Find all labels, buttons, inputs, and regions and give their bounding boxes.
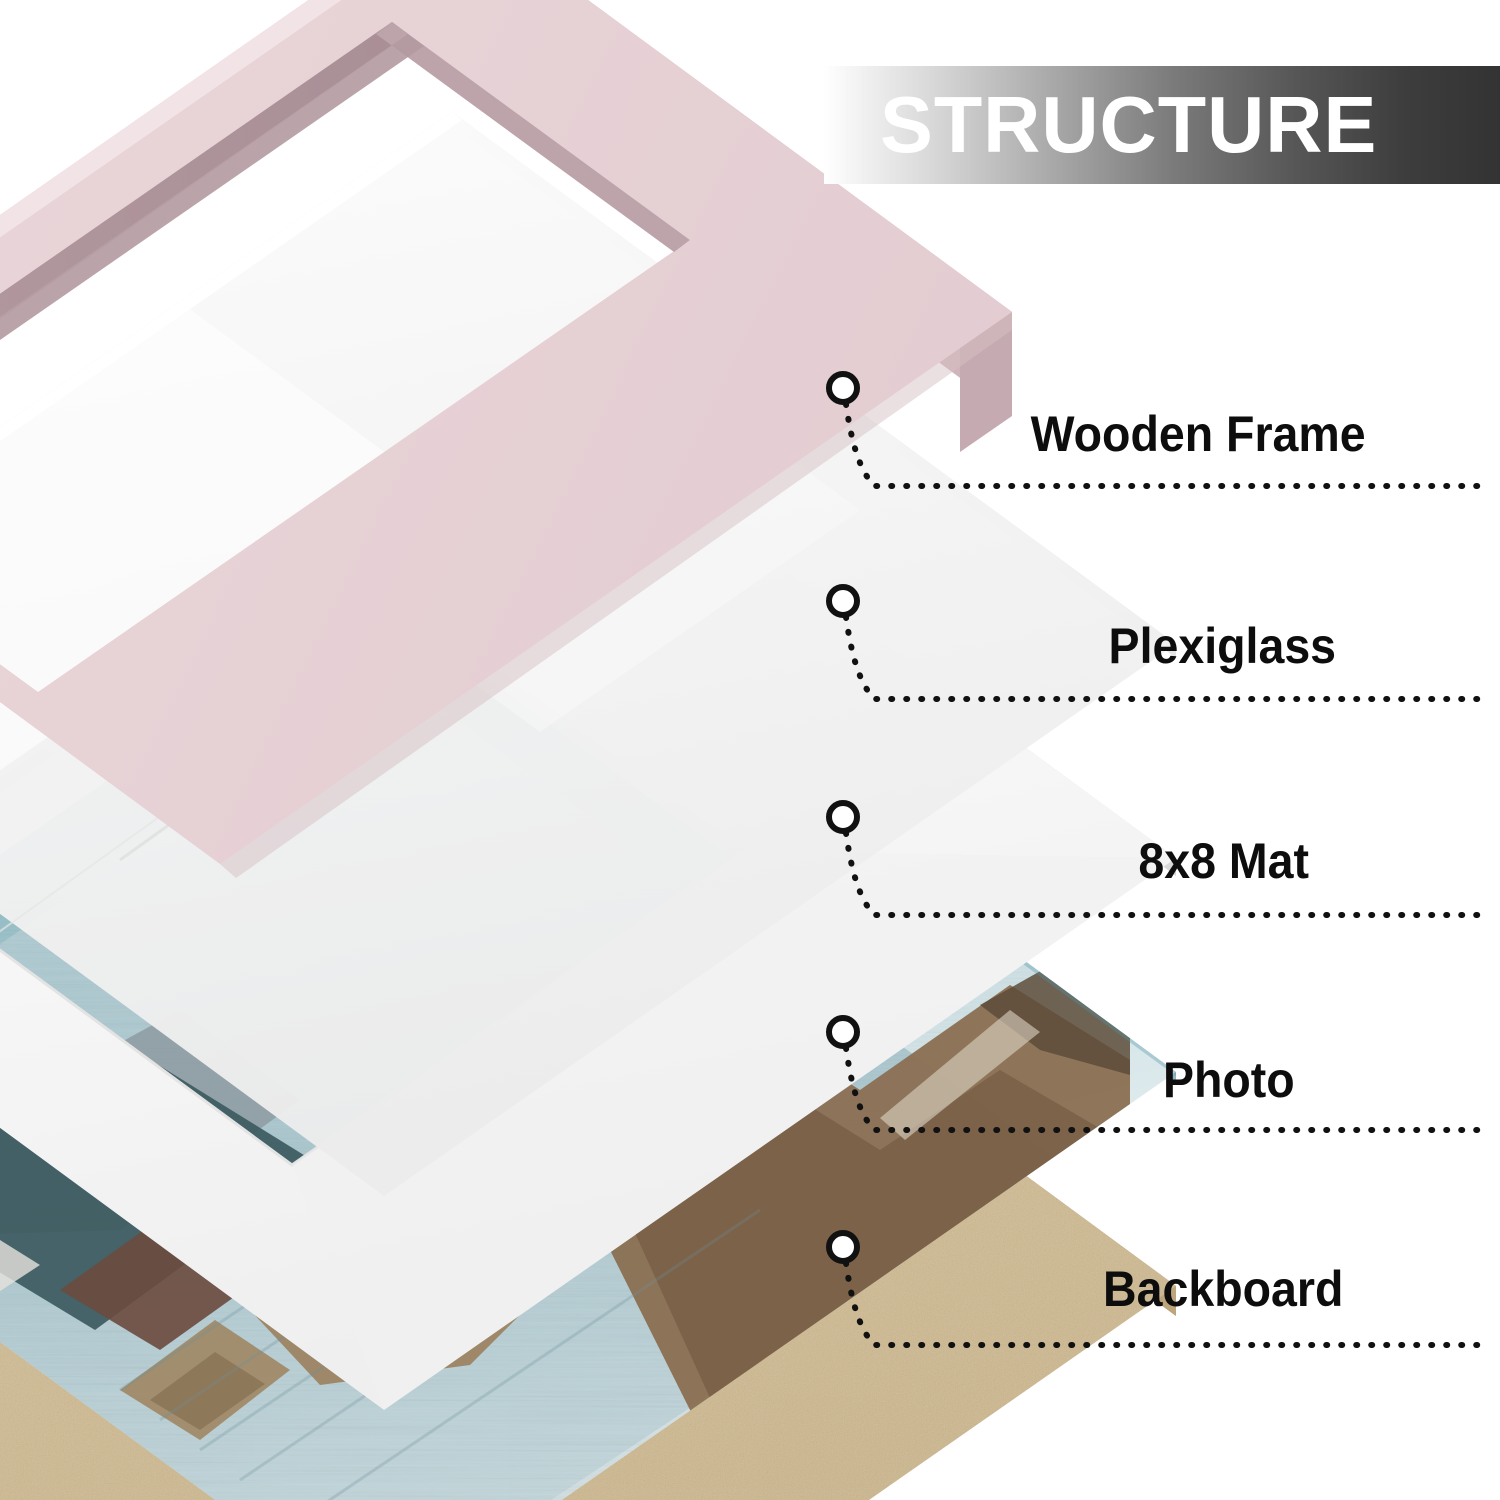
marker-plexiglass	[829, 587, 857, 615]
banner-title: STRUCTURE	[880, 85, 1377, 165]
label-wooden-frame: Wooden Frame	[1031, 409, 1366, 459]
label-plexiglass: Plexiglass	[1109, 621, 1336, 671]
marker-backboard	[829, 1233, 857, 1261]
structure-banner: STRUCTURE	[824, 66, 1500, 184]
marker-wooden-frame	[829, 374, 857, 402]
product-infographic: STRUCTURE Wooden Frame Plexiglass 8x8 Ma…	[0, 0, 1500, 1500]
marker-photo	[829, 1018, 857, 1046]
label-backboard: Backboard	[1103, 1264, 1343, 1314]
label-photo: Photo	[1163, 1055, 1295, 1105]
label-mat: 8x8 Mat	[1138, 836, 1309, 886]
marker-mat	[829, 803, 857, 831]
